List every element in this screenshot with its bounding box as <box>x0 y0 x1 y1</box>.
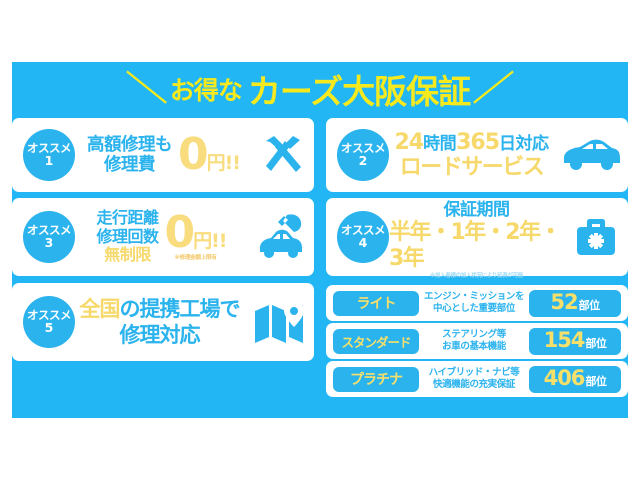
card2-days-number: 365 <box>456 130 499 156</box>
recommend-badge-4: オススメ 4 <box>337 211 389 263</box>
card5-line1-highlight: 全国 <box>80 297 120 321</box>
car-wrench-icon <box>248 212 314 262</box>
card1-line1: 高額修理も <box>87 135 172 155</box>
card3-amount: 0 <box>165 213 194 253</box>
map-pin-icon <box>244 299 314 345</box>
feature-card-5: オススメ 5 全国の提携工場で 修理対応 <box>12 283 314 361</box>
card1-text-block: 高額修理も 修理費 <box>87 135 172 175</box>
card1-amount: 0 <box>178 135 207 175</box>
card5-line1: 全国の提携工場で <box>80 296 240 322</box>
card2-hours-number: 24 <box>394 130 423 156</box>
feature-card-4-body: 保証期間 半年・1年・2年・3年 ※加入者様の加入状況により延長が可能 <box>389 198 564 276</box>
card2-line2: ロードサービス <box>400 156 544 180</box>
feature-card-3: オススメ 3 走行距離 修理回数 無制限 0 円!! ※修理金額上限有 <box>12 198 314 276</box>
plan-coverage-count: 154 部位 <box>529 328 621 355</box>
card3-text-block: 走行距離 修理回数 無制限 <box>97 209 159 266</box>
feature-card-5-body: 全国の提携工場で 修理対応 <box>75 283 244 361</box>
plan-desc-line2: お車の基本機能 <box>419 341 529 353</box>
card3-note: ※修理金額上限有 <box>174 253 216 261</box>
advertisement-banner: ＼ お得な カーズ大阪保証 ／ オススメ 1 高額修理も 修理費 0 円!! <box>0 0 640 480</box>
badge-number: 1 <box>45 154 54 167</box>
headline-slash-right: ／ <box>472 72 514 106</box>
plan-coverage-count: 406 部位 <box>529 366 621 393</box>
plan-description: ハイブリッド・ナビ等 快適機能の充実保証 <box>419 367 529 391</box>
plan-count-unit: 部位 <box>585 373 606 389</box>
feature-card-2-body: 24 時間 365 日対応 ロードサービス <box>389 118 554 192</box>
card2-hours-unit: 時間 <box>423 134 456 154</box>
card3-line3: 無制限 <box>97 246 159 265</box>
badge-number: 5 <box>45 321 54 334</box>
feature-card-2: オススメ 2 24 時間 365 日対応 ロードサービス <box>326 118 628 192</box>
headline-prefix: お得な <box>170 71 242 107</box>
hammer-wrench-icon <box>252 133 314 177</box>
card2-line1: 24 時間 365 日対応 <box>394 130 548 156</box>
card5-line1-rest: の提携工場で <box>120 297 240 321</box>
car-icon <box>554 138 628 172</box>
plan-count-number: 52 <box>550 290 577 314</box>
plan-desc-line1: ハイブリッド・ナビ等 <box>419 367 529 379</box>
plan-desc-line1: ステアリング等 <box>419 329 529 341</box>
plan-coverage-count: 52 部位 <box>529 290 621 317</box>
recommend-badge-1: オススメ 1 <box>23 129 75 181</box>
plan-name-badge: プラチナ <box>333 367 419 392</box>
recommend-badge-5: オススメ 5 <box>23 296 75 348</box>
feature-card-3-body: 走行距離 修理回数 無制限 0 円!! ※修理金額上限有 <box>75 198 248 276</box>
feature-card-1: オススメ 1 高額修理も 修理費 0 円!! <box>12 118 314 192</box>
recommend-badge-3: オススメ 3 <box>23 211 75 263</box>
recommend-badge-2: オススメ 2 <box>337 129 389 181</box>
headline-slash-left: ＼ <box>126 72 168 106</box>
card4-line1: 保証期間 <box>444 195 510 220</box>
plan-description: ステアリング等 お車の基本機能 <box>419 329 529 353</box>
card1-amount-unit: 円!! <box>207 148 240 175</box>
badge-number: 3 <box>45 236 54 249</box>
card4-line2: 半年・1年・2年・3年 <box>389 220 564 271</box>
plan-row-platinum[interactable]: プラチナ ハイブリッド・ナビ等 快適機能の充実保証 406 部位 <box>326 361 628 397</box>
card4-note: ※加入者様の加入状況により延長が可能 <box>430 271 523 279</box>
card2-days-unit: 日対応 <box>499 134 549 154</box>
plan-desc-line2: 中心とした重要部位 <box>419 303 529 315</box>
plan-desc-line2: 快適機能の充実保証 <box>419 379 529 391</box>
card3-amount-unit: 円!! <box>193 226 226 253</box>
badge-number: 4 <box>359 236 368 249</box>
badge-number: 2 <box>359 154 368 167</box>
headline-main: カーズ大阪保証 <box>248 65 470 113</box>
feature-card-4: オススメ 4 保証期間 半年・1年・2年・3年 ※加入者様の加入状況により延長が… <box>326 198 628 276</box>
plan-row-standard[interactable]: スタンダード ステアリング等 お車の基本機能 154 部位 <box>326 323 628 359</box>
plan-row-light[interactable]: ライト エンジン・ミッションを 中心とした重要部位 52 部位 <box>326 285 628 321</box>
page-title: ＼ お得な カーズ大阪保証 ／ <box>12 66 628 112</box>
card3-line1: 走行距離 <box>97 209 159 228</box>
plan-desc-line1: エンジン・ミッションを <box>419 291 529 303</box>
plan-count-number: 154 <box>544 328 585 352</box>
plan-count-unit: 部位 <box>585 335 606 351</box>
feature-card-1-body: 高額修理も 修理費 0 円!! <box>75 118 252 192</box>
plan-name-badge: スタンダード <box>333 329 419 354</box>
plan-description: エンジン・ミッションを 中心とした重要部位 <box>419 291 529 315</box>
card5-line2: 修理対応 <box>120 322 200 348</box>
plan-count-unit: 部位 <box>579 297 600 313</box>
toolbox-icon <box>564 216 628 258</box>
card1-line2: 修理費 <box>87 155 172 175</box>
plan-name-badge: ライト <box>333 291 419 316</box>
plan-count-number: 406 <box>544 366 585 390</box>
card3-line2: 修理回数 <box>97 228 159 247</box>
